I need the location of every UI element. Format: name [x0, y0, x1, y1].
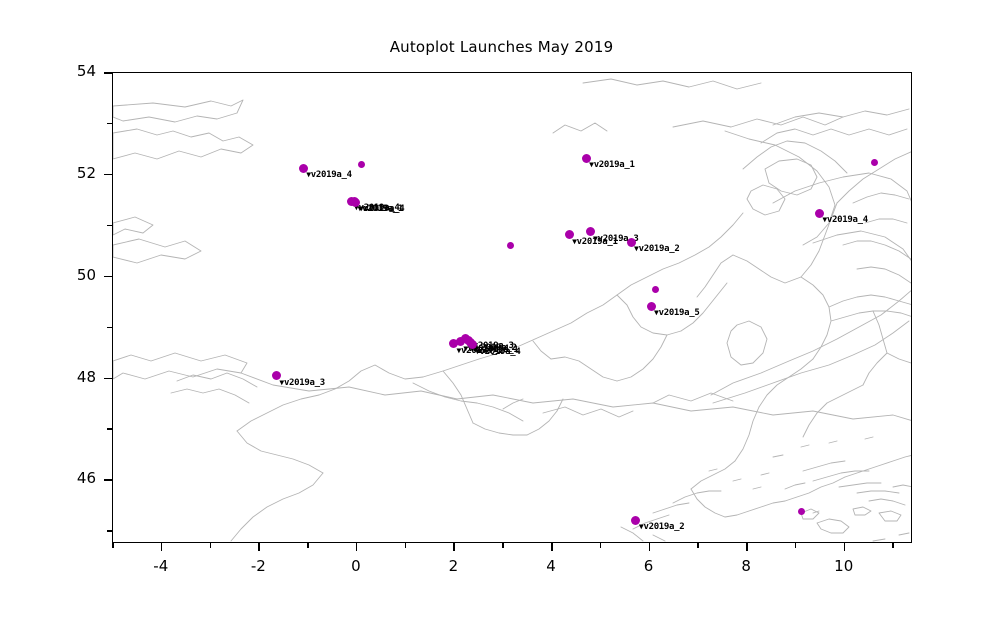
data-points-layer: ▼v2019a_4▼v2019a_4▼v2019a_1▼v2019a_4▼v20…	[113, 73, 912, 543]
axis-tick	[746, 543, 748, 551]
data-point	[358, 161, 365, 168]
axis-tick	[104, 479, 112, 481]
axis-tick	[107, 428, 112, 430]
axis-tick	[405, 543, 407, 548]
data-point-label: ▼v2019a_5	[654, 308, 699, 318]
axis-tick	[104, 72, 112, 74]
data-point-label: ▼v2019a_2	[634, 244, 679, 254]
figure-canvas: Autoplot Launches May 2019	[0, 0, 1003, 633]
x-axis-tick-label: 4	[531, 557, 571, 575]
data-point-label: ▼v2019a_2	[639, 522, 684, 532]
x-axis-tick-label: -2	[238, 557, 278, 575]
data-point	[798, 508, 805, 515]
axis-tick	[795, 543, 797, 548]
axis-tick	[551, 543, 553, 551]
axis-tick	[307, 543, 309, 548]
axis-tick	[104, 378, 112, 380]
data-point-label: ▼v2019a_4	[822, 215, 867, 225]
x-axis-tick-label: -4	[141, 557, 181, 575]
data-point-label: ▼v2019a_1	[589, 160, 634, 170]
x-axis-tick-label: 6	[629, 557, 669, 575]
x-axis-tick-label: 8	[726, 557, 766, 575]
axis-tick	[107, 530, 112, 532]
axis-tick	[104, 174, 112, 176]
data-point-label: ▼v2019a_4	[475, 347, 520, 357]
axis-tick	[161, 543, 163, 551]
axis-tick	[892, 543, 894, 548]
axis-tick	[210, 543, 212, 548]
axis-tick	[107, 327, 112, 329]
x-axis-tick-label: 0	[336, 557, 376, 575]
data-point	[871, 159, 878, 166]
y-axis-tick-label: 50	[52, 266, 96, 284]
data-point-label: ▼v2019a_3	[279, 378, 324, 388]
y-axis-tick-label: 54	[52, 62, 96, 80]
axis-tick	[104, 276, 112, 278]
axis-tick	[258, 543, 260, 551]
axis-tick	[107, 123, 112, 125]
y-axis-tick-label: 52	[52, 164, 96, 182]
axis-tick	[697, 543, 699, 548]
axis-tick	[356, 543, 358, 551]
axis-tick	[600, 543, 602, 548]
data-point	[507, 242, 514, 249]
plot-area: ▼v2019a_4▼v2019a_4▼v2019a_1▼v2019a_4▼v20…	[112, 72, 912, 543]
x-axis-tick-label: 2	[433, 557, 473, 575]
page-title: Autoplot Launches May 2019	[0, 38, 1003, 56]
axis-tick	[649, 543, 651, 551]
y-axis-tick-label: 48	[52, 368, 96, 386]
data-point	[652, 286, 659, 293]
axis-tick	[844, 543, 846, 551]
axis-tick	[453, 543, 455, 551]
axis-tick	[107, 225, 112, 227]
y-axis-tick-label: 46	[52, 469, 96, 487]
x-axis-tick-label: 10	[824, 557, 864, 575]
data-point-label: ▼v2019a_4	[359, 204, 404, 214]
data-point-label: ▼v2019a_4	[306, 170, 351, 180]
axis-tick	[112, 543, 114, 548]
axis-tick	[502, 543, 504, 548]
